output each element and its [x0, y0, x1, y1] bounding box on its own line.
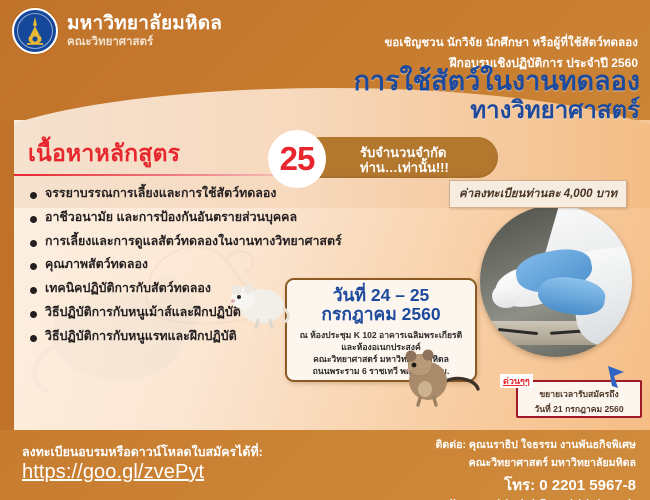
bullet-dot-icon [30, 263, 37, 270]
event-date-line-2: กรกฎาคม 2560 [287, 305, 475, 324]
poster-title-main: การใช้สัตว์ในงานทดลอง [354, 68, 640, 96]
contact-phone: โทร: 0 2201 5967-8 [420, 473, 636, 497]
seat-limit-circle: 25 [268, 130, 326, 188]
list-item-label: การเลี้ยงและการดูแลสัตว์ทดลองในงานทางวิท… [45, 234, 342, 248]
list-item: อาชีวอนามัย และการป้องกันอันตรายส่วนบุคค… [30, 210, 414, 224]
seat-limit-pill: รับจำนวนจำกัด ท่าน…เท่านั้น!!! [300, 137, 498, 178]
mahidol-seal-icon [12, 8, 58, 54]
list-item-label: วิธีปฏิบัติการกับหนูเม้าส์และฝึกปฏิบัติ [45, 305, 241, 319]
event-date-line-1: วันที่ 24 – 25 [287, 286, 475, 305]
bullet-dot-icon [30, 216, 37, 223]
arrow-pointer-icon [604, 364, 626, 390]
lab-rat-handling-photo [480, 205, 632, 357]
poster-footer: ลงทะเบียนอบรมหรือดาวน์โหลดใบสมัครได้ที่:… [0, 430, 650, 500]
contact-block: ติดต่อ: คุณนราธิป ใจธรรม งานพันธกิจพิเศษ… [420, 436, 636, 500]
contact-faculty: คณะวิทยาศาสตร์ มหาวิทยาลัยมหิดล [420, 454, 636, 471]
university-logo-group: มหาวิทยาลัยมหิดล คณะวิทยาศาสตร์ [12, 8, 222, 54]
brown-gerbil-photo [398, 345, 480, 407]
list-item: จรรยาบรรณการเลี้ยงและการใช้สัตว์ทดลอง [30, 186, 414, 200]
venue-line-1: ณ ห้องประชุม K 102 อาคารเฉลิมพระเกียรติ [287, 329, 475, 341]
bullet-dot-icon [30, 240, 37, 247]
deadline-line-2: วันที่ 21 กรกฎาคม 2560 [518, 402, 640, 416]
list-item-label: จรรยาบรรณการเลี้ยงและการใช้สัตว์ทดลอง [45, 186, 276, 200]
list-item: คุณภาพสัตว์ทดลอง [30, 257, 414, 271]
university-name: มหาวิทยาลัยมหิดล [67, 14, 222, 34]
poster-root: มหาวิทยาลัยมหิดล คณะวิทยาศาสตร์ ขอเชิญชว… [0, 0, 650, 500]
left-accent-stripe [0, 120, 14, 430]
list-item: การเลี้ยงและการดูแลสัตว์ทดลองในงานทางวิท… [30, 234, 414, 248]
bullet-dot-icon [30, 287, 37, 294]
bullet-dot-icon [30, 311, 37, 318]
white-mouse-photo [228, 268, 292, 330]
bullet-dot-icon [30, 192, 37, 199]
list-item-label: วิธีปฏิบัติการกับหนูแรทและฝึกปฏิบัติ [45, 329, 237, 343]
urgent-label: ด่วนๆๆ [500, 374, 533, 388]
registration-url-link[interactable]: https://goo.gl/zvePyt [22, 461, 204, 484]
list-item-label: คุณภาพสัตว์ทดลอง [45, 257, 148, 271]
poster-title-sub: ทางวิทยาศาสตร์ [470, 99, 640, 123]
faculty-name: คณะวิทยาศาสตร์ [67, 36, 222, 48]
registration-fee-text: ค่าลงทะเบียนท่านละ 4,000 บาท [459, 188, 617, 200]
list-item-label: เทคนิคปฏิบัติการกับสัตว์ทดลอง [45, 281, 211, 295]
registration-label: ลงทะเบียนอบรมหรือดาวน์โหลดใบสมัครได้ที่: [22, 443, 263, 462]
title-underline [14, 174, 314, 176]
seat-limit-number: 25 [280, 140, 315, 178]
list-item-label: อาชีวอนามัย และการป้องกันอันตรายส่วนบุคค… [45, 210, 297, 224]
invite-line-1: ขอเชิญชวน นักวิจัย นักศึกษา หรือผู้ที่ใช… [384, 34, 638, 52]
bullet-dot-icon [30, 335, 37, 342]
seat-limit-line-2: ท่าน…เท่านั้น!!! [360, 157, 449, 178]
registration-fee-box: ค่าลงทะเบียนท่านละ 4,000 บาท [449, 180, 627, 208]
contact-person: ติดต่อ: คุณนราธิป ใจธรรม งานพันธกิจพิเศษ [420, 436, 636, 453]
